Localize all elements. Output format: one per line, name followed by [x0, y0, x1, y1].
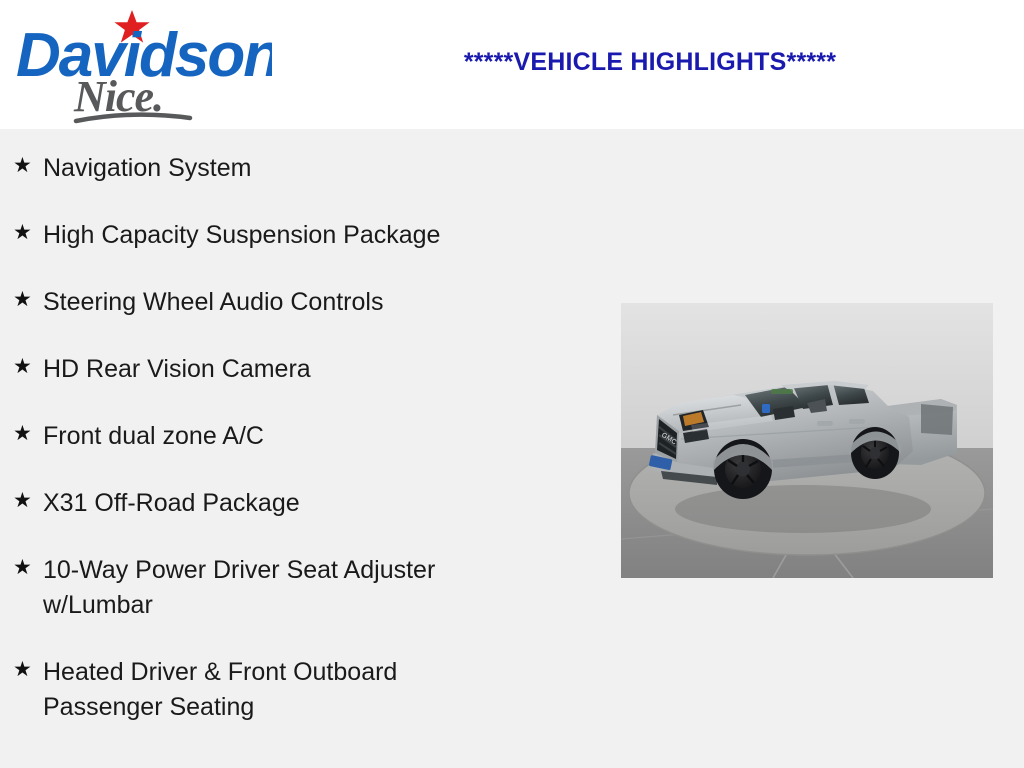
list-item-label: Heated Driver & Front Outboard Passenger… [43, 655, 600, 725]
vehicle-shadow [675, 485, 931, 533]
list-item: ★ Heated Driver & Front Outboard Passeng… [0, 655, 600, 725]
star-bullet-icon: ★ [13, 486, 43, 516]
list-item: ★ HD Rear Vision Camera [0, 352, 600, 387]
list-item-label: High Capacity Suspension Package [43, 218, 600, 253]
door-handle [849, 419, 865, 424]
windshield-tint-strip [771, 389, 793, 394]
list-item-label: HD Rear Vision Camera [43, 352, 600, 387]
truck-bed-inner [921, 404, 953, 435]
door-handle [817, 421, 833, 426]
star-bullet-icon: ★ [13, 419, 43, 449]
vehicle-highlights-list: ★ Navigation System ★ High Capacity Susp… [0, 129, 600, 757]
list-item-label: X31 Off-Road Package [43, 486, 600, 521]
list-item: ★ Steering Wheel Audio Controls [0, 285, 600, 320]
star-bullet-icon: ★ [13, 655, 43, 685]
star-bullet-icon: ★ [13, 352, 43, 382]
page-title: *****VEHICLE HIGHLIGHTS***** [330, 48, 970, 77]
list-item-label: Front dual zone A/C [43, 419, 600, 454]
star-bullet-icon: ★ [13, 553, 43, 583]
list-item-label: Navigation System [43, 151, 600, 186]
interior-blue-tag [762, 404, 770, 413]
list-item: ★ 10-Way Power Driver Seat Adjuster w/Lu… [0, 553, 600, 623]
star-bullet-icon: ★ [13, 285, 43, 315]
dealer-logo[interactable]: Davidson Nice. [12, 6, 272, 124]
vehicle-photo-artwork: GMC [621, 303, 993, 578]
list-item-label: 10-Way Power Driver Seat Adjuster w/Lumb… [43, 553, 600, 623]
list-item: ★ X31 Off-Road Package [0, 486, 600, 521]
dealer-logo-artwork: Davidson Nice. [12, 6, 272, 124]
list-item: ★ High Capacity Suspension Package [0, 218, 600, 253]
star-bullet-icon: ★ [13, 218, 43, 248]
list-item-label: Steering Wheel Audio Controls [43, 285, 600, 320]
vehicle-photo[interactable]: GMC [621, 303, 993, 578]
list-item: ★ Front dual zone A/C [0, 419, 600, 454]
list-item: ★ Navigation System [0, 151, 600, 186]
star-bullet-icon: ★ [13, 151, 43, 181]
